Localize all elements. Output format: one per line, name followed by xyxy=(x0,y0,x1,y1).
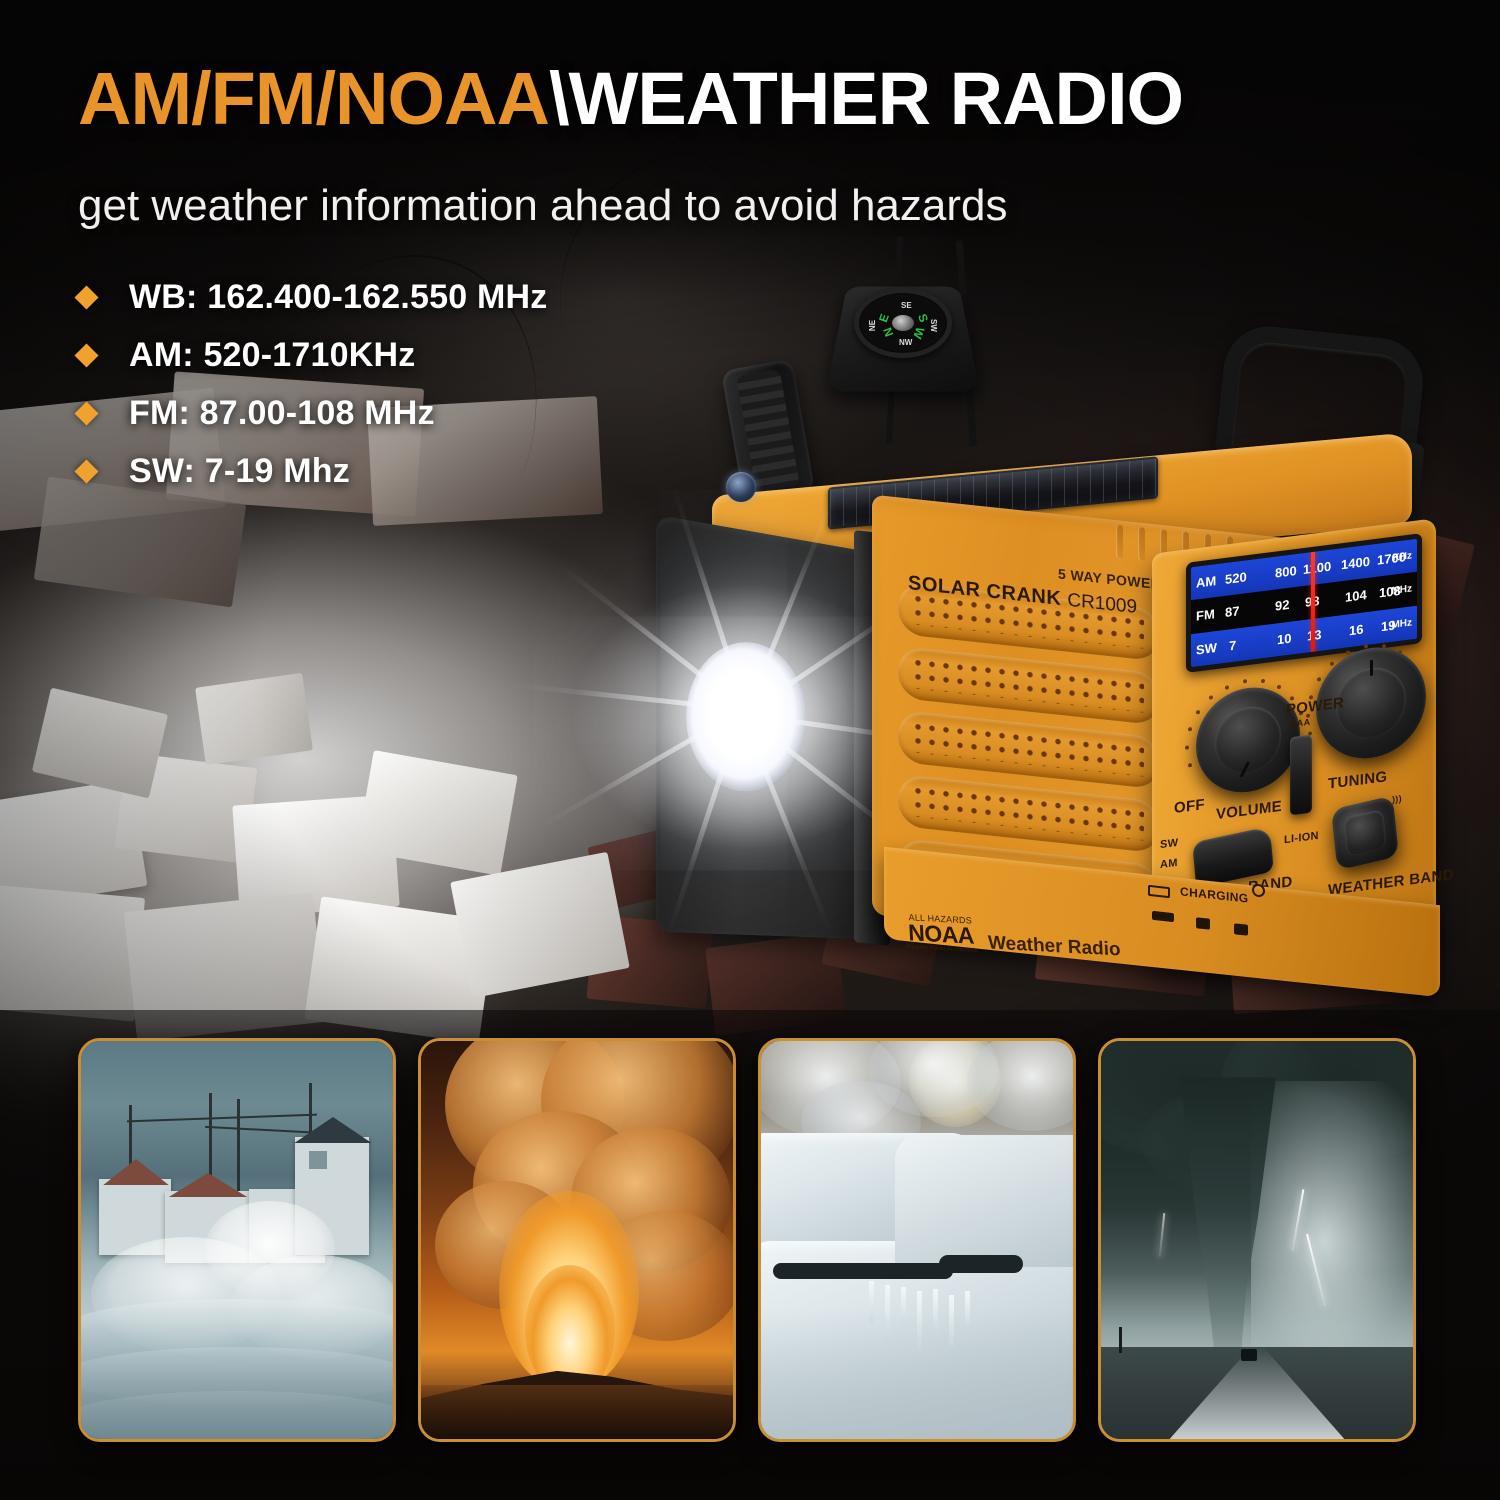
spec-item: SW: 7-19 Mhz xyxy=(78,442,547,500)
compass-module: E S N W SE NW NE SW xyxy=(838,266,968,396)
spec-label: WB: 162.400-162.550 MHz xyxy=(129,278,547,317)
dial-tick: 7 xyxy=(1229,637,1236,653)
dial-tick: 1100 xyxy=(1303,559,1331,578)
diamond-bullet-icon xyxy=(74,343,98,367)
band-sw-label: SW xyxy=(1160,837,1178,851)
spec-item: AM: 520-1710KHz xyxy=(78,326,547,384)
spec-label: AM: 520-1710KHz xyxy=(129,336,415,375)
storm-surge-image xyxy=(81,1041,393,1439)
thumbnail-volcanic-eruption[interactable] xyxy=(418,1038,736,1442)
tornado-image xyxy=(1101,1041,1413,1439)
compass-label-e: E xyxy=(876,312,892,324)
compass-label-nw: NW xyxy=(899,338,912,347)
dial-band-label: SW xyxy=(1196,640,1217,658)
weather-band-knob-cap xyxy=(1343,809,1387,857)
volume-knob-cap xyxy=(1215,703,1282,778)
noaa-logo-name: NOAA xyxy=(902,922,981,947)
spec-list: WB: 162.400-162.550 MHz AM: 520-1710KHz … xyxy=(78,268,547,500)
dial-tick: 520 xyxy=(1225,569,1247,587)
compass-label-ne: NE xyxy=(868,320,877,331)
thumbnail-ice-storm-blizzard[interactable] xyxy=(758,1038,1076,1442)
noaa-logo: ALL HAZARDS NOAA Weather Radio All Hazar… xyxy=(901,912,981,955)
spec-item: WB: 162.400-162.550 MHz xyxy=(78,268,547,326)
dial-unit: KHz xyxy=(1393,551,1412,564)
dial-tick: 800 xyxy=(1275,563,1297,581)
dial-band-label: AM xyxy=(1196,573,1216,591)
dial-tick: 87 xyxy=(1225,604,1239,621)
flashlight-lens xyxy=(686,642,806,792)
reading-lamp-bulb xyxy=(726,472,756,502)
dial-tick: 92 xyxy=(1275,597,1289,614)
diamond-bullet-icon xyxy=(74,459,98,483)
diamond-bullet-icon xyxy=(74,285,98,309)
dial-tick: 104 xyxy=(1345,588,1367,606)
power-button-icon[interactable] xyxy=(1252,883,1265,897)
page-subtitle: get weather information ahead to avoid h… xyxy=(78,184,1007,228)
band-am-label: AM xyxy=(1160,857,1178,871)
diamond-bullet-icon xyxy=(74,401,98,425)
weather-band-alert-icon: ))) xyxy=(1392,793,1402,804)
ice-storm-image xyxy=(761,1041,1073,1439)
page-title: AM/FM/NOAA\WEATHER RADIO xyxy=(78,62,1183,136)
headline-orange-part: AM/FM/NOAA xyxy=(78,57,549,140)
lightning-bolt xyxy=(1159,1213,1166,1257)
compass-label-sw: SW xyxy=(929,319,938,332)
volcanic-eruption-image xyxy=(421,1041,733,1439)
compass-label-w: W xyxy=(910,325,927,340)
compass-bezel: E S N W SE NW NE SW xyxy=(854,288,952,358)
dial-tick: 1400 xyxy=(1341,554,1370,573)
battery-icon xyxy=(1148,885,1170,898)
usb-port-b[interactable] xyxy=(1196,917,1210,929)
compass-face: E S N W SE NW NE SW xyxy=(863,297,943,349)
spec-label: SW: 7-19 Mhz xyxy=(129,452,350,491)
thumbnail-tornado-supercell[interactable] xyxy=(1098,1038,1416,1442)
product-radio: E S N W SE NW NE SW xyxy=(640,236,1470,1026)
product-marketing-banner: AM/FM/NOAA\WEATHER RADIO get weather inf… xyxy=(0,0,1500,1500)
usb-port-c[interactable] xyxy=(1234,923,1248,935)
dial-unit: MHz xyxy=(1391,584,1412,598)
compass-pivot xyxy=(892,315,914,331)
power-source-switch[interactable] xyxy=(1290,735,1312,816)
headline-white-part: \WEATHER RADIO xyxy=(549,57,1183,140)
spec-item: FM: 87.00-108 MHz xyxy=(78,384,547,442)
tuning-knob-indicator xyxy=(1370,660,1373,676)
spec-label: FM: 87.00-108 MHz xyxy=(129,394,435,433)
tuning-needle xyxy=(1311,552,1315,653)
dial-band-label: FM xyxy=(1196,607,1215,624)
dial-unit: MHz xyxy=(1391,617,1412,631)
thumbnail-storm-surge-flooding[interactable] xyxy=(78,1038,396,1442)
hazard-thumbnail-strip xyxy=(0,1010,1500,1500)
dial-tick: 10 xyxy=(1277,630,1291,647)
dial-tick: 16 xyxy=(1349,621,1363,638)
compass-label-se: SE xyxy=(901,301,912,310)
